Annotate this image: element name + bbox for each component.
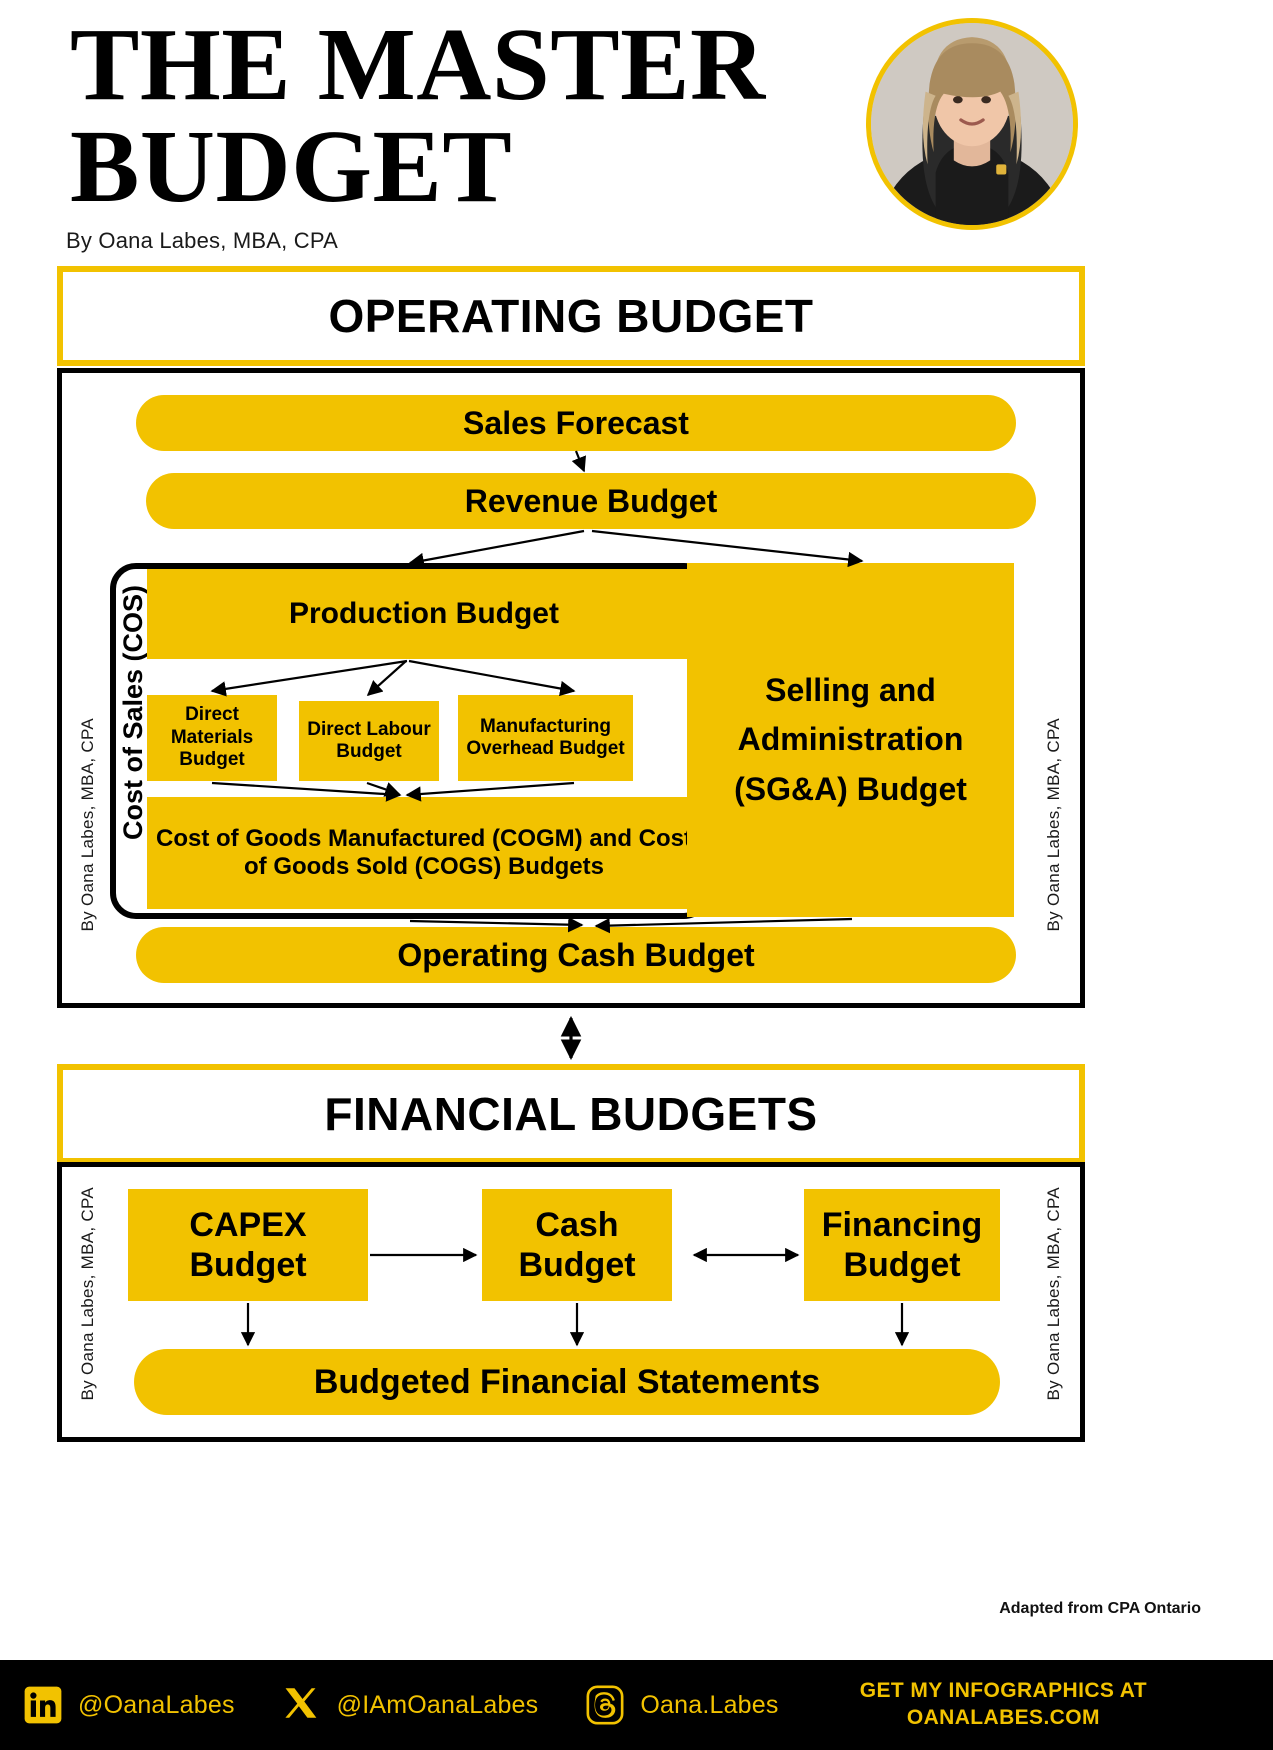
social-linkedin-handle: @OanaLabes <box>78 1691 235 1720</box>
direct-labour-budget-box[interactable]: Direct Labour Budget <box>299 701 439 781</box>
cogm-cogs-budget-label: Cost of Goods Manufactured (COGM) and Co… <box>155 825 693 882</box>
social-x[interactable]: @IAmOanaLabes <box>281 1684 539 1726</box>
sales-forecast-box[interactable]: Sales Forecast <box>136 395 1016 451</box>
page-title: THE MASTER BUDGET <box>70 14 870 218</box>
x-twitter-icon <box>281 1684 323 1726</box>
operating-budget-body: By Oana Labes, MBA, CPA By Oana Labes, M… <box>57 368 1085 1008</box>
social-threads[interactable]: Oana.Labes <box>584 1684 778 1726</box>
operating-cash-budget-label: Operating Cash Budget <box>397 937 754 974</box>
linkedin-icon <box>22 1684 64 1726</box>
manufacturing-overhead-budget-label: Manufacturing Overhead Budget <box>466 716 625 761</box>
direct-labour-budget-label: Direct Labour Budget <box>307 719 431 764</box>
operating-side-credit-left: By Oana Labes, MBA, CPA <box>78 718 98 932</box>
sales-forecast-label: Sales Forecast <box>463 405 689 442</box>
social-linkedin[interactable]: @OanaLabes <box>22 1684 235 1726</box>
sga-budget-box[interactable]: Selling and Administration (SG&A) Budget <box>687 563 1014 917</box>
page-title-line1: THE MASTER <box>70 14 870 116</box>
budgeted-financial-statements-box[interactable]: Budgeted Financial Statements <box>134 1349 1000 1415</box>
operating-budget-heading-label: OPERATING BUDGET <box>328 289 813 343</box>
social-threads-handle: Oana.Labes <box>640 1691 778 1720</box>
financial-budgets-heading: FINANCIAL BUDGETS <box>57 1064 1085 1164</box>
financing-budget-box[interactable]: Financing Budget <box>804 1189 1000 1301</box>
manufacturing-overhead-budget-box[interactable]: Manufacturing Overhead Budget <box>458 695 633 781</box>
footer-socials: @OanaLabes @IAmOanaLabes Oana.Labes <box>22 1684 779 1726</box>
attribution-note: Adapted from CPA Ontario <box>999 1600 1201 1618</box>
page-title-line2: BUDGET <box>70 116 870 218</box>
section-connector-arrow <box>0 1008 1273 1070</box>
budgeted-financial-statements-label: Budgeted Financial Statements <box>314 1363 820 1402</box>
footer-cta-line1: GET MY INFOGRAPHICS AT <box>860 1678 1147 1705</box>
financing-budget-label: Financing Budget <box>812 1205 992 1285</box>
cost-of-sales-label: Cost of Sales (COS) <box>118 585 149 840</box>
footer: @OanaLabes @IAmOanaLabes Oana.Labes <box>0 1660 1273 1750</box>
financial-budgets-heading-label: FINANCIAL BUDGETS <box>324 1087 817 1141</box>
revenue-budget-label: Revenue Budget <box>465 483 717 520</box>
operating-budget-heading: OPERATING BUDGET <box>57 266 1085 366</box>
production-budget-label: Production Budget <box>289 596 559 631</box>
capex-budget-label: CAPEX Budget <box>136 1205 360 1285</box>
sga-budget-label: Selling and Administration (SG&A) Budget <box>695 666 1006 815</box>
footer-cta-line2: OANALABES.COM <box>860 1705 1147 1732</box>
cash-budget-label: Cash Budget <box>490 1205 664 1285</box>
production-budget-box[interactable]: Production Budget <box>147 569 701 659</box>
byline: By Oana Labes, MBA, CPA <box>66 228 338 254</box>
avatar <box>866 18 1078 230</box>
header: THE MASTER BUDGET By Oana Labes, MBA, CP… <box>0 0 1273 262</box>
direct-materials-budget-box[interactable]: Direct Materials Budget <box>147 695 277 781</box>
financial-side-credit-left: By Oana Labes, MBA, CPA <box>78 1187 98 1401</box>
infographic-page: THE MASTER BUDGET By Oana Labes, MBA, CP… <box>0 0 1273 1750</box>
capex-budget-box[interactable]: CAPEX Budget <box>128 1189 368 1301</box>
footer-cta[interactable]: GET MY INFOGRAPHICS AT OANALABES.COM <box>860 1678 1147 1732</box>
social-x-handle: @IAmOanaLabes <box>337 1691 539 1720</box>
operating-side-credit-right: By Oana Labes, MBA, CPA <box>1044 718 1064 932</box>
direct-materials-budget-label: Direct Materials Budget <box>155 704 269 771</box>
cash-budget-box[interactable]: Cash Budget <box>482 1189 672 1301</box>
financial-budgets-body: By Oana Labes, MBA, CPA By Oana Labes, M… <box>57 1162 1085 1442</box>
cogm-cogs-budget-box[interactable]: Cost of Goods Manufactured (COGM) and Co… <box>147 797 701 909</box>
operating-cash-budget-box[interactable]: Operating Cash Budget <box>136 927 1016 983</box>
threads-icon <box>584 1684 626 1726</box>
financial-side-credit-right: By Oana Labes, MBA, CPA <box>1044 1187 1064 1401</box>
revenue-budget-box[interactable]: Revenue Budget <box>146 473 1036 529</box>
